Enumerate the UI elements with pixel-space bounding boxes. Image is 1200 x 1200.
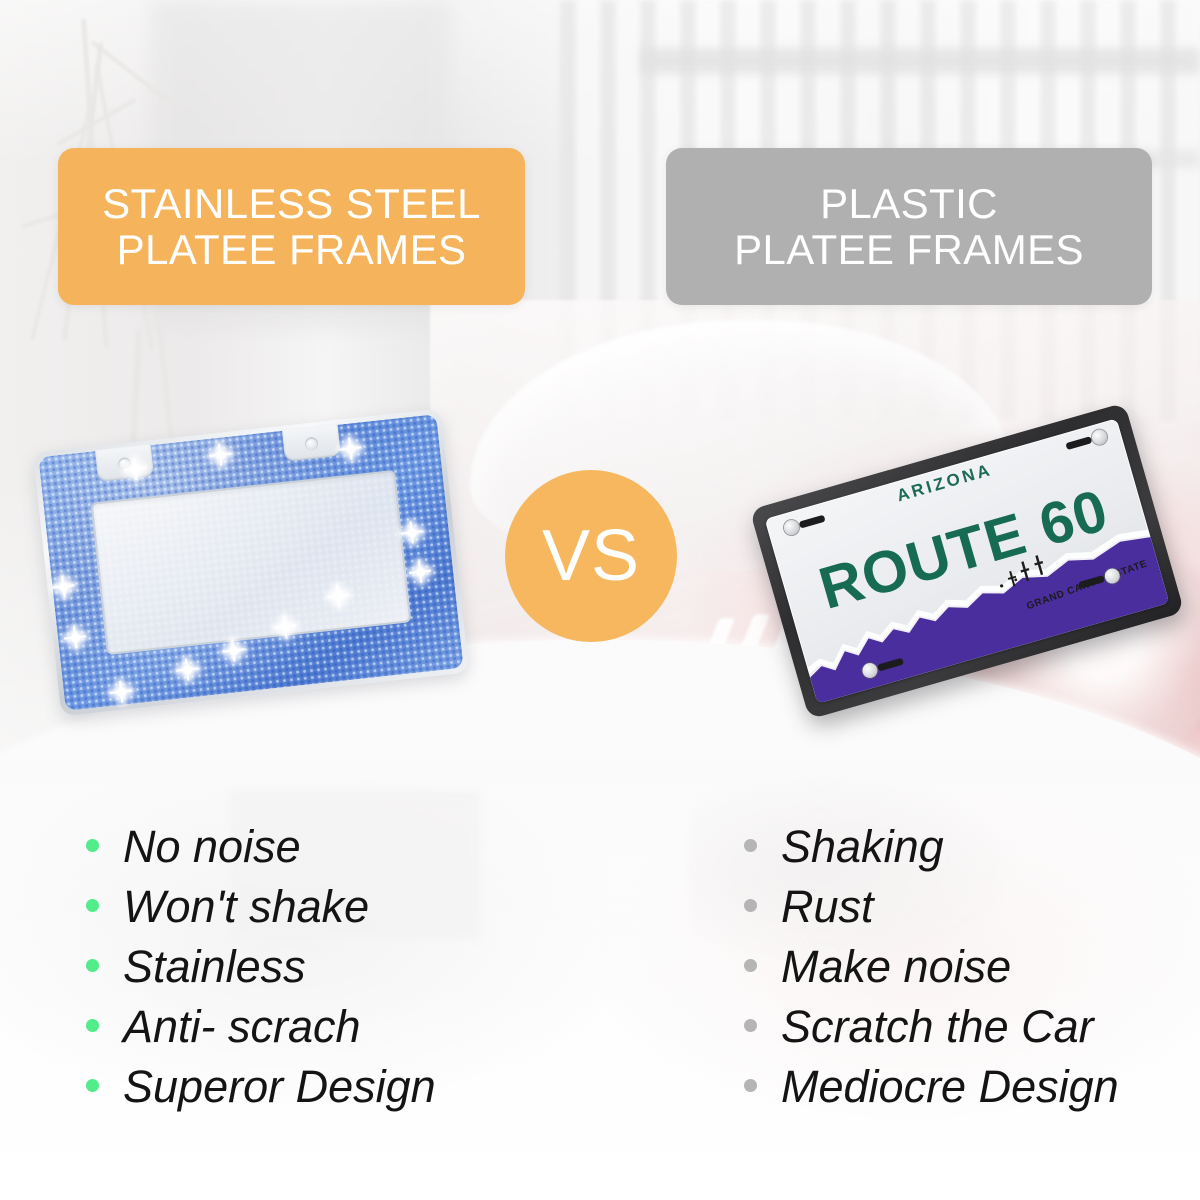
banner-right-line2: PLATEE FRAMES <box>734 227 1084 272</box>
list-item: Won't shake <box>86 884 556 929</box>
list-item: Shaking <box>744 824 1194 869</box>
vs-badge: VS <box>505 470 677 642</box>
list-item: Rust <box>744 884 1194 929</box>
stainless-steel-crystal-frame-image <box>33 409 469 717</box>
list-item: Stainless <box>86 944 556 989</box>
bolt-hole <box>117 457 131 471</box>
bullet-icon <box>86 839 99 852</box>
banner-left-line1: STAINLESS STEEL <box>102 181 481 226</box>
bullet-icon <box>744 959 757 972</box>
vs-label: VS <box>542 515 640 597</box>
banner-plastic: PLASTIC PLATEE FRAMES <box>666 148 1152 305</box>
pros-list: No noise Won't shake Stainless Anti- scr… <box>86 824 556 1124</box>
steel-frame-bolt-notch <box>282 424 341 462</box>
bullet-icon <box>86 1019 99 1032</box>
bullet-icon <box>744 1079 757 1092</box>
list-item: Make noise <box>744 944 1194 989</box>
list-item: Superor Design <box>86 1064 556 1109</box>
list-item: No noise <box>86 824 556 869</box>
banner-stainless-steel: STAINLESS STEEL PLATEE FRAMES <box>58 148 525 305</box>
cons-list: Shaking Rust Make noise Scratch the Car … <box>744 824 1194 1124</box>
bullet-icon <box>86 899 99 912</box>
pros-item-label: Stainless <box>123 944 306 989</box>
banner-right-line1: PLASTIC <box>734 181 1084 226</box>
pros-item-label: Superor Design <box>123 1064 436 1109</box>
pros-item-label: Won't shake <box>123 884 369 929</box>
steel-frame-bolt-notch <box>95 444 154 482</box>
list-item: Scratch the Car <box>744 1004 1194 1049</box>
cons-item-label: Scratch the Car <box>781 1004 1094 1049</box>
comparison-infographic: STAINLESS STEEL PLATEE FRAMES PLASTIC PL… <box>0 0 1200 1200</box>
list-item: Anti- scrach <box>86 1004 556 1049</box>
cons-item-label: Rust <box>781 884 874 929</box>
cons-item-label: Shaking <box>781 824 944 869</box>
cons-item-label: Mediocre Design <box>781 1064 1119 1109</box>
list-item: Mediocre Design <box>744 1064 1194 1109</box>
bullet-icon <box>86 959 99 972</box>
bullet-icon <box>86 1079 99 1092</box>
bullet-icon <box>744 1019 757 1032</box>
bullet-icon <box>744 899 757 912</box>
cons-item-label: Make noise <box>781 944 1011 989</box>
pros-item-label: Anti- scrach <box>123 1004 361 1049</box>
background-shelf-upper <box>640 48 1200 74</box>
pros-item-label: No noise <box>123 824 301 869</box>
banner-left-line2: PLATEE FRAMES <box>102 227 481 272</box>
bolt-hole <box>304 436 318 450</box>
bullet-icon <box>744 839 757 852</box>
